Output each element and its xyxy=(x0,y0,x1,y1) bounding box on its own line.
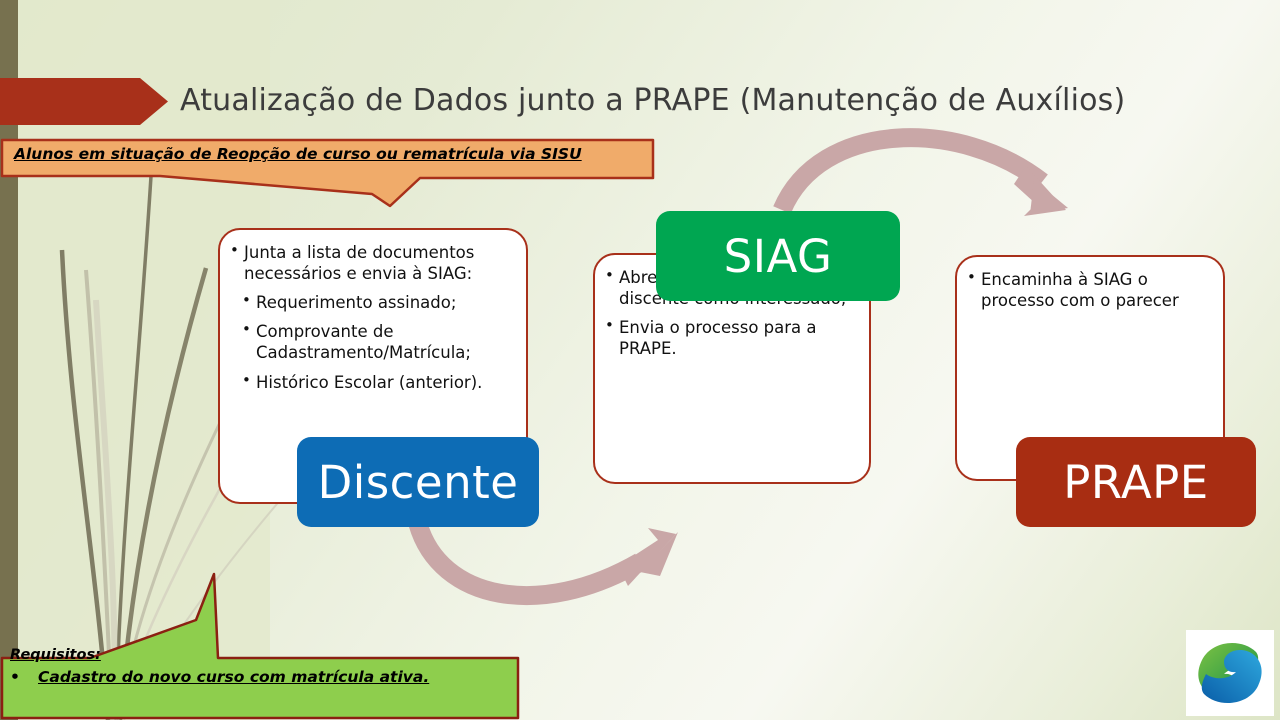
callout-bottom-item-text: Cadastro do novo curso com matrícula ati… xyxy=(38,668,429,686)
s-logo xyxy=(1186,630,1274,716)
list-item: Encaminha à SIAG o processo com o parece… xyxy=(967,269,1209,311)
bullet-list-discente: Junta a lista de documentos necessários … xyxy=(220,230,526,393)
callout-top-label: Alunos em situação de Reopção de curso o… xyxy=(14,145,644,163)
page-title: Atualização de Dados junto a PRAPE (Manu… xyxy=(180,78,1140,126)
role-badge-discente: Discente xyxy=(297,437,539,527)
s-logo-icon xyxy=(1186,630,1274,716)
arrow-siag-to-prape xyxy=(782,138,1068,216)
title-arrow-banner xyxy=(0,78,168,125)
list-item: Junta a lista de documentos necessários … xyxy=(230,242,512,284)
list-item: Envia o processo para a PRAPE. xyxy=(605,317,855,359)
slide-canvas: Atualização de Dados junto a PRAPE (Manu… xyxy=(0,0,1280,720)
list-item: Comprovante de Cadastramento/Matrícula; xyxy=(230,321,512,363)
callout-bottom-item: •Cadastro do novo curso com matrícula at… xyxy=(10,668,510,686)
list-item: Histórico Escolar (anterior). xyxy=(230,372,512,393)
callout-bottom-title: Requisitos: xyxy=(10,647,101,663)
role-badge-prape: PRAPE xyxy=(1016,437,1256,527)
list-item: Requerimento assinado; xyxy=(230,292,512,313)
bullet-marker: • xyxy=(10,668,38,686)
role-badge-siag: SIAG xyxy=(656,211,900,301)
callout-bottom-shape xyxy=(0,560,540,720)
bullet-list-prape: Encaminha à SIAG o processo com o parece… xyxy=(957,257,1223,311)
